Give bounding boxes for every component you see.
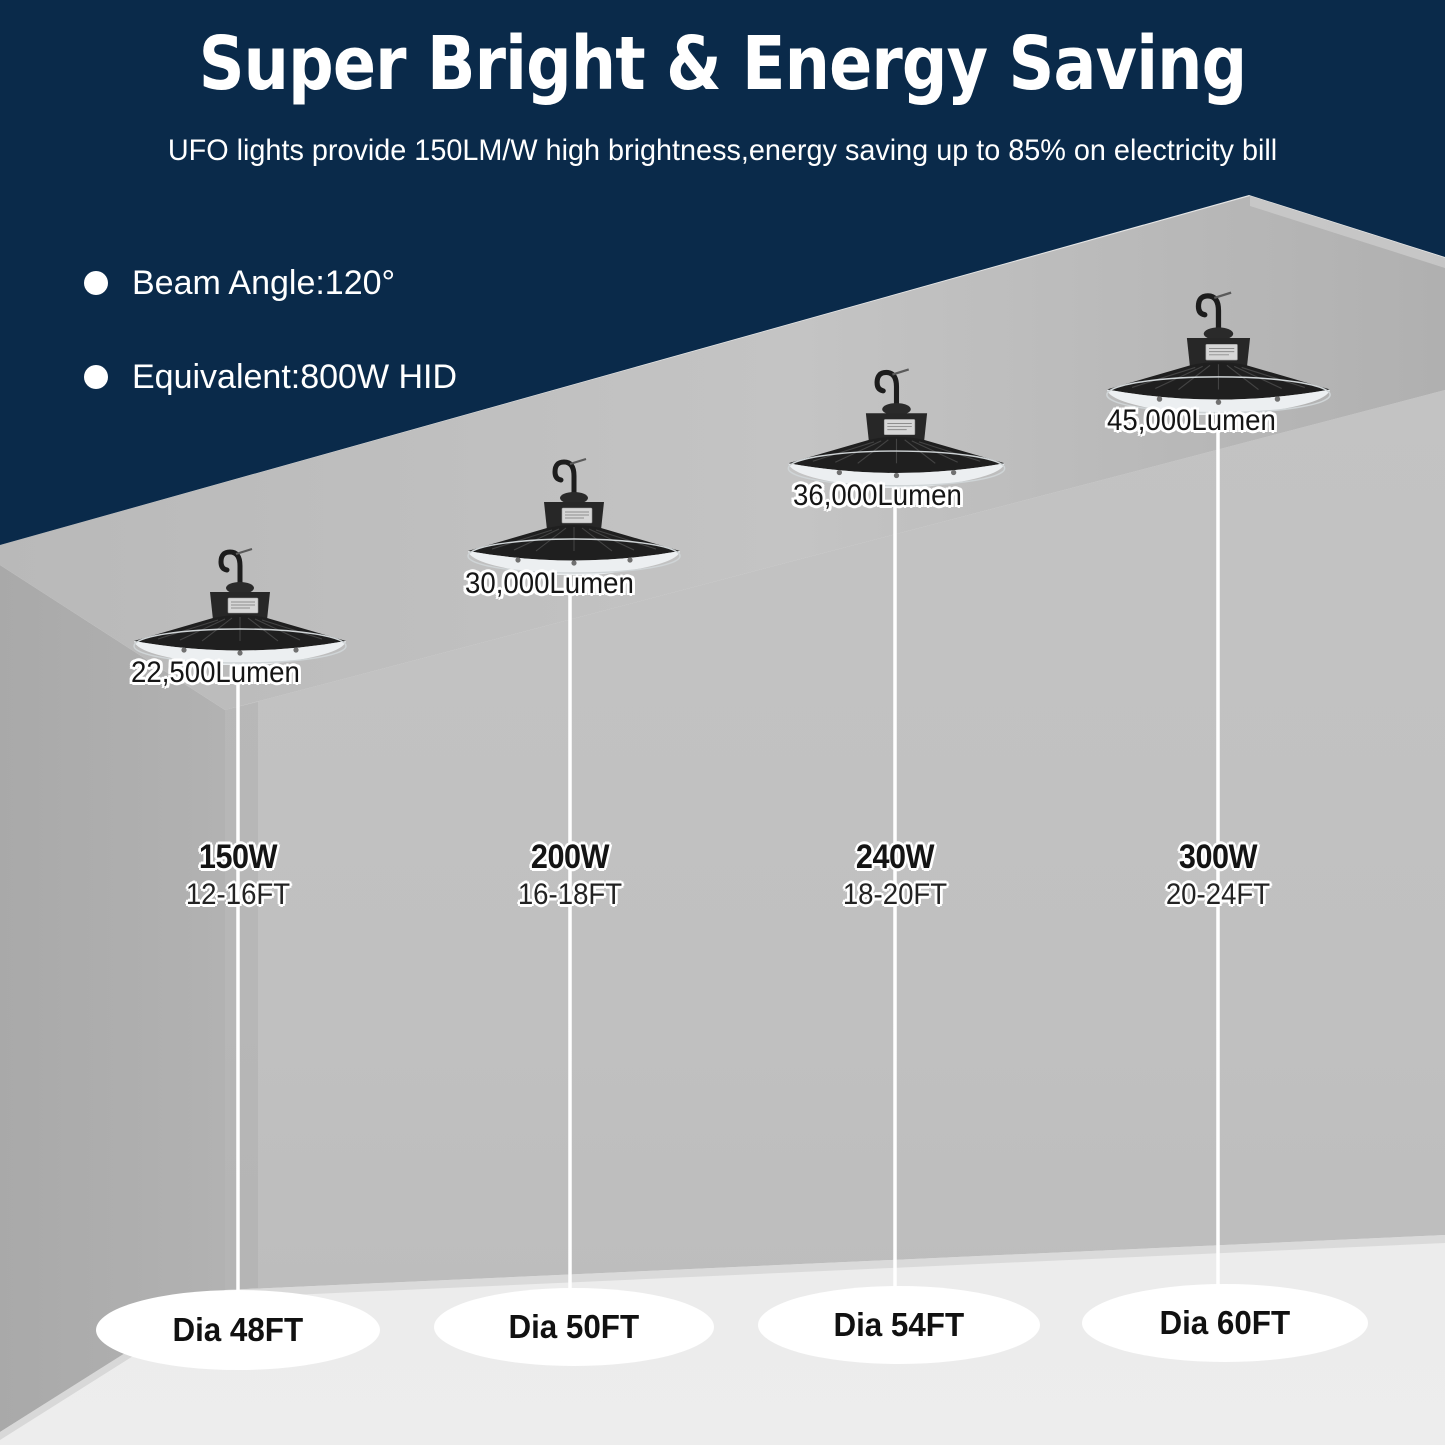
coverage-label-300w: Dia 60FT [1160, 1304, 1291, 1342]
wattage-label-200w: 200W [471, 838, 669, 877]
feature-bullet-label: Equivalent:800W HID [132, 358, 457, 397]
spec-block-240w: 240W 18-20FT [785, 838, 1005, 912]
page-subtitle: UFO lights provide 150LM/W high brightne… [29, 134, 1416, 168]
lumen-label-240w: 36,000Lumen [793, 479, 962, 513]
ufo-highbay-infographic: Super Bright & Energy Saving UFO lights … [0, 0, 1445, 1445]
spec-block-150w: 150W 12-16FT [128, 838, 348, 912]
coverage-pool-200w: Dia 50FT [434, 1288, 714, 1366]
wattage-label-240w: 240W [796, 838, 994, 877]
coverage-pool-150w: Dia 48FT [96, 1290, 380, 1370]
lumen-label-150w: 22,500Lumen [131, 656, 300, 690]
feature-bullet-list: Beam Angle:120° Equivalent:800W HID [84, 256, 457, 444]
coverage-pool-240w: Dia 54FT [758, 1286, 1040, 1364]
page-title: Super Bright & Energy Saving [101, 26, 1344, 104]
mount-height-label-300w: 20-24FT [1117, 878, 1319, 912]
room-scene [0, 0, 1445, 1445]
wattage-label-300w: 300W [1119, 838, 1317, 877]
coverage-label-240w: Dia 54FT [834, 1306, 965, 1344]
coverage-pool-300w: Dia 60FT [1082, 1284, 1368, 1362]
mount-height-label-200w: 16-18FT [469, 878, 671, 912]
corner-shadow [225, 702, 258, 1290]
feature-bullet-label: Beam Angle:120° [132, 264, 395, 303]
feature-bullet-equivalent: Equivalent:800W HID [84, 350, 457, 404]
spec-block-300w: 300W 20-24FT [1108, 838, 1328, 912]
feature-bullet-beam-angle: Beam Angle:120° [84, 256, 457, 310]
bullet-dot-icon [84, 365, 108, 389]
bullet-dot-icon [84, 271, 108, 295]
mount-height-label-150w: 12-16FT [137, 878, 339, 912]
coverage-label-150w: Dia 48FT [173, 1311, 304, 1349]
mount-height-label-240w: 18-20FT [794, 878, 996, 912]
spec-block-200w: 200W 16-18FT [460, 838, 680, 912]
coverage-label-200w: Dia 50FT [509, 1308, 640, 1346]
lumen-label-200w: 30,000Lumen [465, 567, 634, 601]
wattage-label-150w: 150W [139, 838, 337, 877]
lumen-label-300w: 45,000Lumen [1107, 404, 1276, 438]
